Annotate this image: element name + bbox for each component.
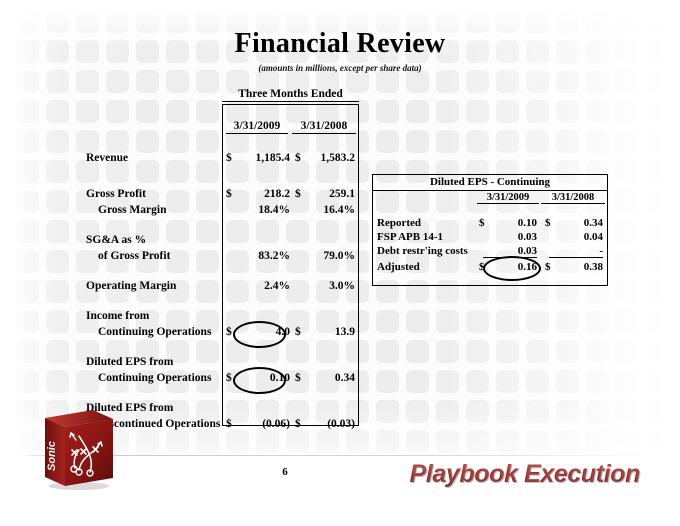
page-title: Financial Review [0, 28, 680, 60]
slide-canvas: Financial Review (amounts in millions, e… [0, 0, 680, 526]
main-table-value-2008: 13.9 [300, 326, 355, 338]
main-table-row: Diluted EPS from [86, 356, 361, 370]
main-table-value-2009: 83.2% [234, 250, 290, 262]
main-table-row-label: Diluted EPS from [86, 356, 173, 368]
main-table-value-2009: 1,185.4 [234, 152, 290, 164]
main-table-value-2008: 3.0% [300, 280, 355, 292]
eps-table-row: Reported$0.10$0.34 [373, 217, 607, 230]
main-table-group-header: Three Months Ended [222, 88, 359, 102]
main-table-row-label: Revenue [86, 152, 128, 164]
main-table-value-2008: 16.4% [300, 204, 355, 216]
main-table-row: Income from [86, 310, 361, 324]
main-table-value-2009: 218.2 [234, 188, 290, 200]
eps-value-2008: 0.04 [549, 231, 603, 243]
main-table-row-label: Continuing Operations [98, 326, 211, 338]
eps-subtotal-rule [483, 257, 537, 258]
main-table-value-2008: 0.34 [300, 372, 355, 384]
main-table-row: Discontinued Operations$(0.06)$(0.03) [86, 418, 361, 432]
main-table-row: Operating Margin2.4%3.0% [86, 280, 361, 294]
eps-table-row: Debt restr'ing costs0.03- [373, 245, 607, 258]
main-table-value-2008: 1,583.2 [300, 152, 355, 164]
eps-row-label: Debt restr'ing costs [377, 245, 468, 257]
main-table-value-2009: (0.06) [234, 418, 290, 430]
page-subtitle: (amounts in millions, except per share d… [0, 63, 680, 73]
main-table-row-label: Gross Margin [98, 204, 166, 216]
main-table-row: of Gross Profit83.2%79.0% [86, 250, 361, 264]
eps-value-2009: 0.03 [483, 245, 537, 257]
eps-table-title: Diluted EPS - Continuing [373, 175, 607, 191]
eps-table-row: FSP APB 14-10.030.04 [373, 231, 607, 244]
main-table-row: SG&A as % [86, 234, 361, 248]
main-table-row: Continuing Operations$0.10$0.34 [86, 372, 361, 386]
main-table-row: Gross Profit$218.2$259.1 [86, 188, 361, 202]
page-number: 6 [270, 466, 300, 478]
eps-column-header-2009: 3/31/2009 [477, 192, 539, 204]
currency-symbol: $ [226, 188, 232, 200]
main-table-row-label: Income from [86, 310, 149, 322]
eps-row-label: FSP APB 14-1 [377, 231, 443, 243]
main-table-row: Gross Margin18.4%16.4% [86, 204, 361, 218]
main-table-value-2009: 2.4% [234, 280, 290, 292]
eps-value-2009: 0.16 [483, 261, 537, 273]
eps-row-label: Reported [377, 217, 421, 229]
main-table-row: Revenue$1,185.4$1,583.2 [86, 152, 361, 166]
logo-svg: Sonic [35, 406, 117, 490]
main-table-row: Continuing Operations$4.0$13.9 [86, 326, 361, 340]
currency-symbol: $ [226, 152, 232, 164]
eps-value-2008: 0.38 [549, 261, 603, 273]
main-table-value-2008: 259.1 [300, 188, 355, 200]
currency-symbol: $ [226, 326, 232, 338]
main-table-row-label: Operating Margin [86, 280, 176, 292]
main-table-column-header-2009: 3/31/2009 [226, 120, 288, 134]
diluted-eps-table: Diluted EPS - Continuing 3/31/2009 3/31/… [372, 174, 608, 286]
main-table-value-2008: 79.0% [300, 250, 355, 262]
eps-value-2008: 0.34 [549, 217, 603, 229]
main-table-row: Diluted EPS from [86, 402, 361, 416]
eps-table-row: Adjusted$0.16$0.38 [373, 261, 607, 274]
main-table-value-2009: 18.4% [234, 204, 290, 216]
main-table-value-2008: (0.03) [300, 418, 355, 430]
eps-subtotal-rule [549, 257, 603, 258]
main-table-row-label: SG&A as % [86, 234, 146, 246]
eps-column-header-2008: 3/31/2008 [541, 192, 605, 204]
footer-brand-text: Playbook Execution [380, 460, 640, 489]
eps-value-2008: - [549, 245, 603, 257]
main-table-row-label: of Gross Profit [98, 250, 170, 262]
eps-row-label: Adjusted [377, 261, 420, 273]
sonic-playbook-logo: Sonic [35, 406, 117, 490]
main-table-value-2009: 4.0 [234, 326, 290, 338]
eps-value-2009: 0.10 [483, 217, 537, 229]
main-table-column-header-2008: 3/31/2008 [292, 120, 356, 134]
main-table-row-label: Continuing Operations [98, 372, 211, 384]
logo-sonic-text: Sonic [46, 441, 58, 471]
eps-value-2009: 0.03 [483, 231, 537, 243]
eps-table-header-row: 3/31/2009 3/31/2008 [373, 191, 607, 206]
main-table-value-2009: 0.10 [234, 372, 290, 384]
main-table-row-label: Gross Profit [86, 188, 146, 200]
currency-symbol: $ [226, 418, 232, 430]
currency-symbol: $ [226, 372, 232, 384]
